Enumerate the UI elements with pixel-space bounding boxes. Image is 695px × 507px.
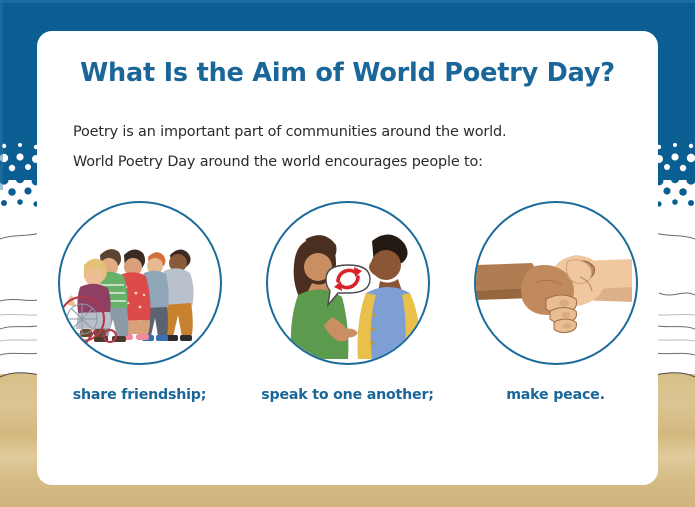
list-item-caption: make peace. [506, 387, 605, 403]
friendship-circle-image [58, 201, 222, 365]
list-item: share friendship; [54, 201, 226, 403]
illustration-row: share friendship; [37, 201, 658, 403]
handshake-circle-image [474, 201, 638, 365]
intro-paragraph-2: World Poetry Day around the world encour… [37, 140, 658, 170]
speaking-circle-image [266, 201, 430, 365]
content-card: What Is the Aim of World Poetry Day? Poe… [37, 31, 658, 485]
list-item: speak to one another; [262, 201, 434, 403]
left-edge-line [0, 0, 3, 190]
slide: What Is the Aim of World Poetry Day? Poe… [0, 0, 695, 507]
list-item-caption: share friendship; [73, 387, 206, 403]
list-item-caption: speak to one another; [261, 387, 433, 403]
list-item: make peace. [470, 201, 642, 403]
intro-paragraph-1: Poetry is an important part of communiti… [37, 88, 658, 140]
page-title: What Is the Aim of World Poetry Day? [37, 31, 658, 88]
top-edge-line [0, 0, 695, 3]
